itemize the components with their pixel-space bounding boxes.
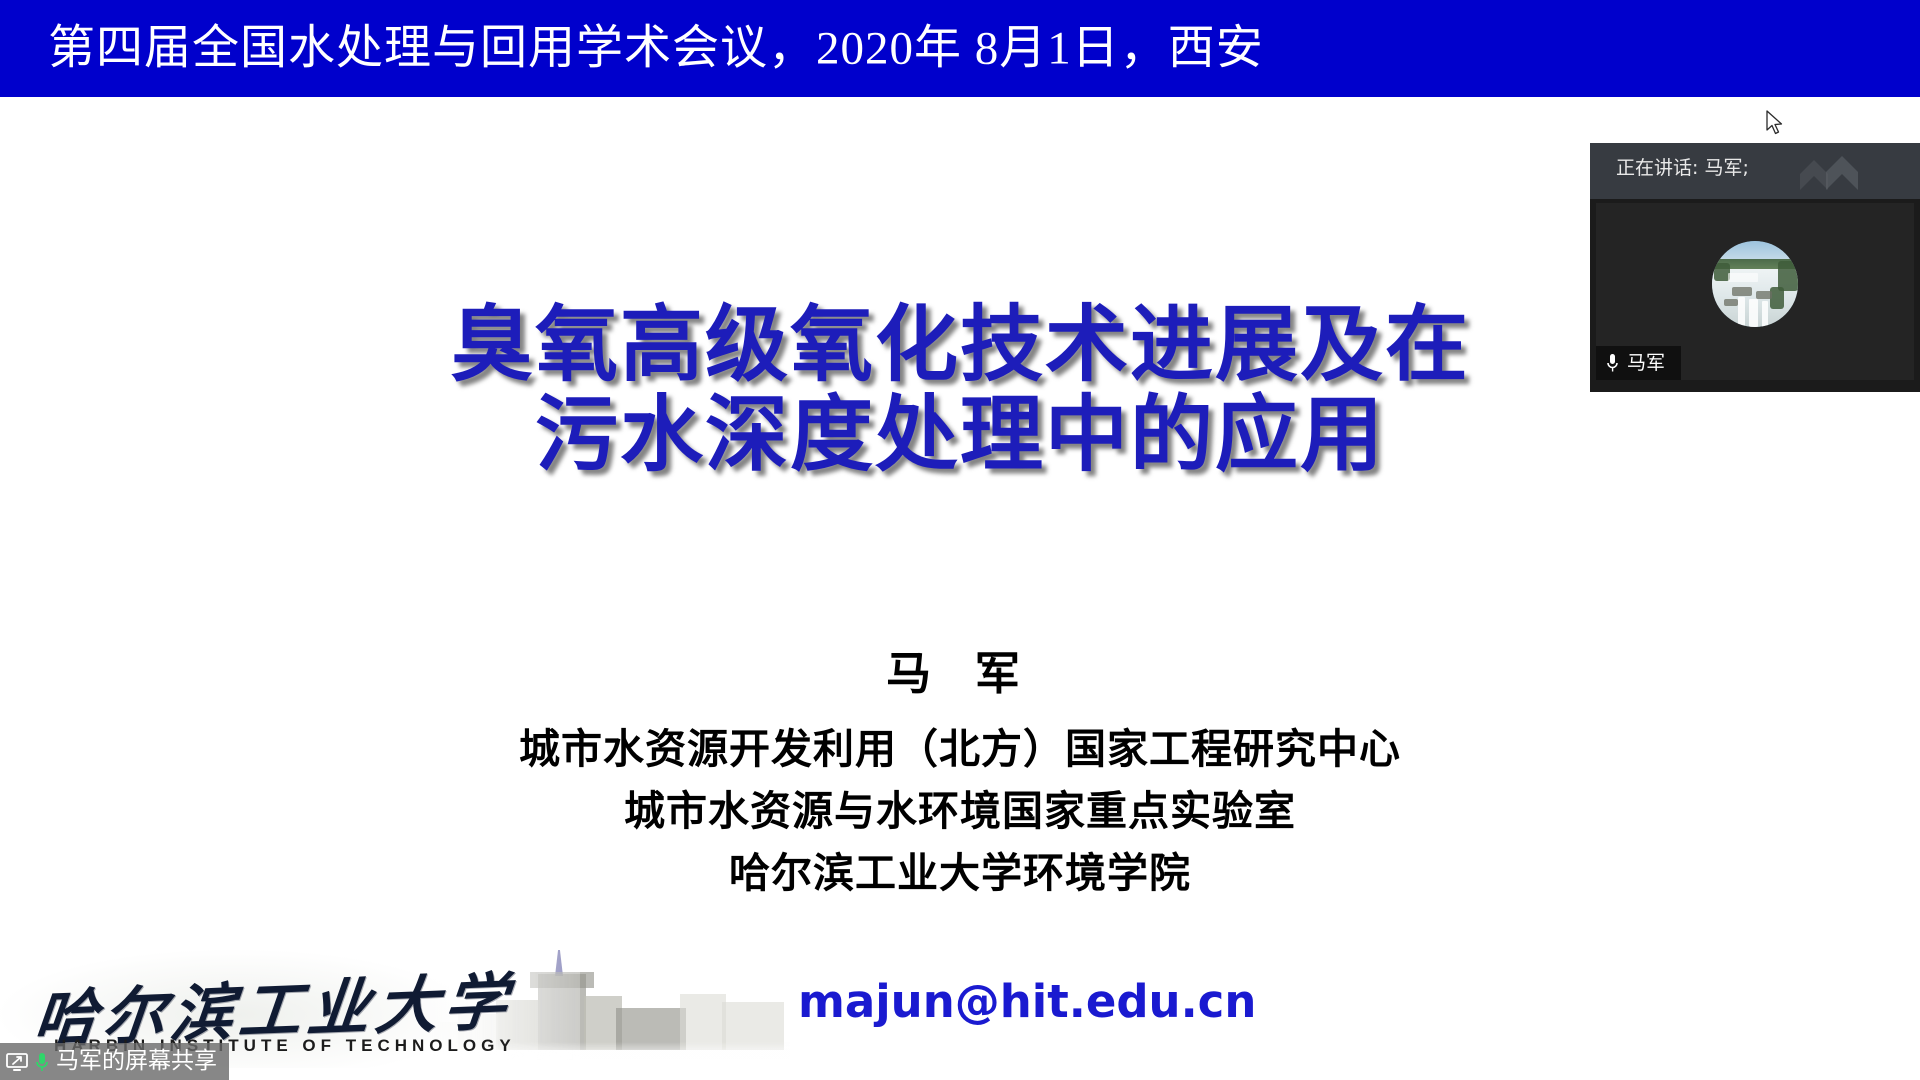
microphone-icon [34, 1051, 50, 1073]
screen-share-badge: 马军的屏幕共享 [0, 1043, 229, 1080]
conference-banner-text: 第四届全国水处理与回用学术会议，2020年 8月1日，西安 [48, 25, 1264, 72]
slide-title-line-2: 污水深度处理中的应用 [0, 390, 1920, 480]
participant-video-tile[interactable]: 马军 [1596, 203, 1914, 380]
affiliation-line-1: 城市水资源开发利用（北方）国家工程研究中心 [0, 718, 1920, 780]
affiliation-line-2: 城市水资源与水环境国家重点实验室 [0, 780, 1920, 842]
conference-banner: 第四届全国水处理与回用学术会议，2020年 8月1日，西安 [0, 0, 1920, 97]
screen-share-label: 马军的屏幕共享 [56, 1050, 217, 1073]
contact-email: majun@hit.edu.cn [798, 975, 1256, 1028]
participant-name-badge: 马军 [1596, 346, 1681, 380]
author-affiliation-block: 马 军 城市水资源开发利用（北方）国家工程研究中心 城市水资源与水环境国家重点实… [0, 640, 1920, 904]
active-speaker-label: 正在讲话: 马军; [1616, 159, 1749, 178]
avatar [1712, 241, 1798, 327]
microphone-icon [1606, 353, 1619, 373]
screen-share-icon [6, 1052, 28, 1072]
participant-name: 马军 [1627, 354, 1665, 373]
zoom-logo-watermark-icon [1796, 150, 1868, 194]
author-name: 马 军 [0, 640, 1920, 708]
affiliation-line-3: 哈尔滨工业大学环境学院 [0, 842, 1920, 904]
zoom-video-panel[interactable]: 正在讲话: 马军; [1590, 143, 1920, 392]
video-panel-header: 正在讲话: 马军; [1590, 143, 1920, 199]
